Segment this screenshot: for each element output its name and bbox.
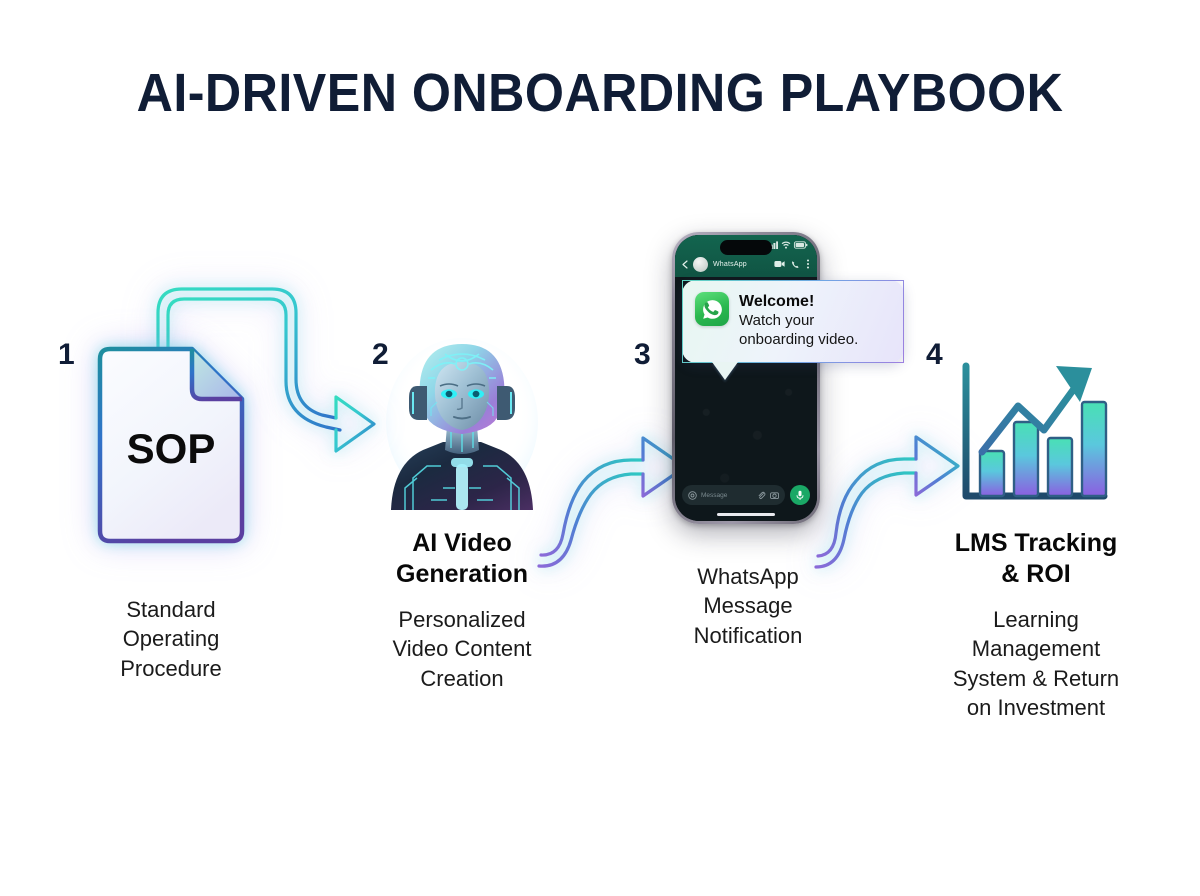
bar-chart-growth-icon [952, 360, 1112, 510]
smartphone-whatsapp-icon: WhatsApp [672, 232, 820, 524]
attach-icon[interactable] [757, 491, 766, 500]
more-vertical-icon[interactable] [806, 259, 810, 269]
notification-body-line-1: Watch your [739, 312, 858, 331]
chart-bar-1 [980, 451, 1004, 496]
phone-call-icon[interactable] [791, 260, 800, 269]
toolbar-icons [774, 259, 810, 269]
step-2-caption: AI Video Generation Personalized Video C… [340, 528, 584, 693]
step-4-title-line-2: & ROI [912, 559, 1160, 590]
step-number-3: 3 [634, 340, 651, 370]
sop-badge-text: SOP [127, 425, 216, 472]
notification-headline: Welcome! [739, 292, 858, 311]
notification-text: Welcome! Watch your onboarding video. [739, 292, 858, 350]
sticker-icon[interactable] [688, 491, 697, 500]
camera-icon[interactable] [770, 491, 779, 500]
step-3-subtitle-line-3: Notification [628, 621, 868, 650]
app-name-label: WhatsApp [713, 261, 769, 268]
step-number-4: 4 [926, 340, 943, 370]
step-3-subtitle-line-1: WhatsApp [628, 562, 868, 591]
page-title: AI-DRIVEN ONBOARDING PLAYBOOK [42, 62, 1158, 124]
step-4-subtitle-line-3: System & Return [912, 664, 1160, 693]
microphone-icon[interactable] [790, 485, 810, 505]
home-indicator [717, 513, 775, 516]
battery-icon [794, 241, 808, 249]
message-placeholder: Message [701, 492, 727, 499]
step-1-subtitle-line-2: Operating [48, 624, 294, 653]
bubble-tail [712, 362, 738, 380]
step-4-title-line-1: LMS Tracking [912, 528, 1160, 559]
whatsapp-header: WhatsApp [675, 235, 817, 277]
step-3-subtitle-line-2: Message [628, 591, 868, 620]
chart-bar-4 [1082, 402, 1106, 496]
step-2-subtitle-line-1: Personalized [340, 605, 584, 634]
step-4-subtitle-line-1: Learning [912, 605, 1160, 634]
phone-screen: WhatsApp [675, 235, 817, 521]
message-input-bar: Message [682, 485, 810, 505]
video-call-icon[interactable] [774, 260, 785, 268]
infographic-canvas: AI-DRIVEN ONBOARDING PLAYBOOK [0, 0, 1200, 896]
step-4-subtitle-line-2: Management [912, 634, 1160, 663]
whatsapp-logo-icon [695, 292, 729, 326]
back-arrow-icon[interactable] [682, 260, 688, 269]
step-1-subtitle-line-3: Procedure [48, 654, 294, 683]
step-4-subtitle-line-4: on Investment [912, 693, 1160, 722]
step-2-title-line-2: Generation [340, 559, 584, 590]
step-number-1: 1 [58, 340, 75, 370]
contact-avatar[interactable] [693, 257, 708, 272]
chat-toolbar: WhatsApp [675, 253, 817, 275]
sop-document-icon: SOP [88, 345, 254, 545]
step-4-caption: LMS Tracking & ROI Learning Management S… [912, 528, 1160, 723]
ai-android-avatar-icon [383, 338, 541, 510]
chart-trend-arrowhead [1056, 366, 1092, 402]
chart-bar-2 [1014, 422, 1038, 496]
step-2-subtitle-line-3: Creation [340, 664, 584, 693]
step-1-subtitle-line-1: Standard [48, 595, 294, 624]
notification-body-line-2: onboarding video. [739, 331, 858, 350]
wifi-icon [781, 241, 791, 249]
step-2-title-line-1: AI Video [340, 528, 584, 559]
notification-bubble: Welcome! Watch your onboarding video. [682, 280, 904, 363]
chart-bar-3 [1048, 438, 1072, 496]
chat-wallpaper [675, 235, 817, 521]
step-2-subtitle-line-2: Video Content [340, 634, 584, 663]
step-3-caption: WhatsApp Message Notification [628, 562, 868, 650]
message-input[interactable]: Message [682, 485, 785, 505]
step-1-caption: Standard Operating Procedure [48, 595, 294, 683]
